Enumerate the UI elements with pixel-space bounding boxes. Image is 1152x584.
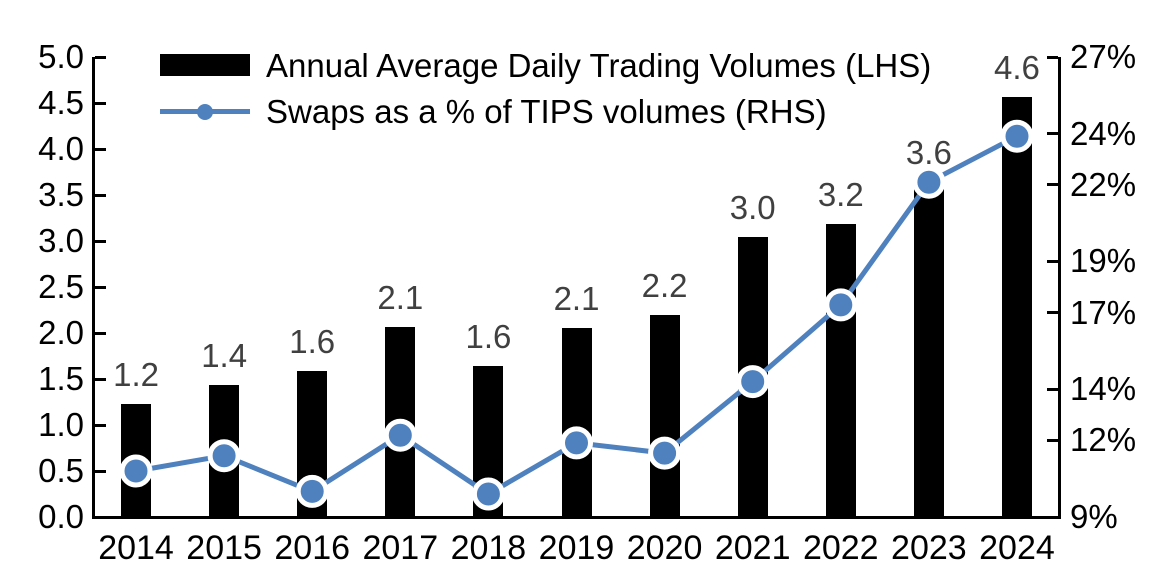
bar[interactable]: [826, 224, 856, 517]
left-axis-tick-label: 1.5: [38, 362, 84, 395]
x-axis-tick-label: 2020: [615, 529, 715, 568]
legend-item-line[interactable]: Swaps as a % of TIPS volumes (RHS): [160, 88, 931, 134]
bar[interactable]: [473, 366, 503, 517]
legend-label-bars: Annual Average Daily Trading Volumes (LH…: [266, 49, 931, 82]
bar[interactable]: [385, 327, 415, 517]
bar[interactable]: [650, 315, 680, 517]
legend-label-line: Swaps as a % of TIPS volumes (RHS): [266, 95, 827, 128]
bar-value-label: 3.0: [703, 191, 803, 224]
bar[interactable]: [297, 371, 327, 517]
line-marker-swatch-icon: [160, 100, 250, 122]
bar-swatch-icon: [160, 54, 250, 76]
right-axis-tick-label: 9%: [1070, 500, 1118, 533]
right-axis-tick-label: 22%: [1070, 168, 1136, 201]
right-axis-tick-label: 24%: [1070, 117, 1136, 150]
bar[interactable]: [738, 237, 768, 517]
left-axis-tick-label: 0.5: [38, 454, 84, 487]
bar-value-label: 1.6: [262, 325, 362, 358]
bar[interactable]: [121, 404, 151, 517]
x-axis-tick-label: 2018: [438, 529, 538, 568]
left-axis-tick-label: 4.5: [38, 86, 84, 119]
x-axis-tick-label: 2019: [527, 529, 627, 568]
x-axis-tick-label: 2017: [350, 529, 450, 568]
left-axis-tick-label: 0.0: [38, 500, 84, 533]
chart-legend: Annual Average Daily Trading Volumes (LH…: [160, 42, 931, 134]
chart-container: 5.04.54.03.53.02.52.01.51.00.50.0 27%24%…: [0, 0, 1152, 584]
right-axis-tick-label: 27%: [1070, 40, 1136, 73]
left-axis-tick-label: 2.0: [38, 316, 84, 349]
right-axis-tick-label: 17%: [1070, 296, 1136, 329]
x-axis-tick-label: 2024: [967, 529, 1067, 568]
bar-value-label: 2.1: [350, 281, 450, 314]
left-axis-tick-label: 3.5: [38, 178, 84, 211]
left-axis-tick-label: 5.0: [38, 40, 84, 73]
bar-value-label: 2.1: [527, 282, 627, 315]
right-axis-tick-label: 12%: [1070, 423, 1136, 456]
bar[interactable]: [209, 385, 239, 517]
bar-value-label: 1.6: [438, 320, 538, 353]
bar-value-label: 1.4: [174, 339, 274, 372]
x-axis-tick-label: 2016: [262, 529, 362, 568]
bar[interactable]: [914, 182, 944, 517]
x-axis-tick-label: 2015: [174, 529, 274, 568]
right-axis-tick-label: 19%: [1070, 244, 1136, 277]
bar[interactable]: [1002, 97, 1032, 517]
bar-value-label: 3.6: [879, 136, 979, 169]
bar-value-label: 3.2: [791, 178, 891, 211]
x-axis-tick-label: 2022: [791, 529, 891, 568]
bar-value-label: 2.2: [615, 269, 715, 302]
x-axis-tick-label: 2021: [703, 529, 803, 568]
x-axis-tick-label: 2023: [879, 529, 979, 568]
left-axis-tick-label: 3.0: [38, 224, 84, 257]
legend-item-bars[interactable]: Annual Average Daily Trading Volumes (LH…: [160, 42, 931, 88]
left-axis-tick-label: 4.0: [38, 132, 84, 165]
bar-value-label: 1.2: [86, 358, 186, 391]
bar-value-label: 4.6: [967, 51, 1067, 84]
x-axis-tick-label: 2014: [86, 529, 186, 568]
left-axis-tick-label: 1.0: [38, 408, 84, 441]
left-axis-tick-label: 2.5: [38, 270, 84, 303]
right-axis-tick-label: 14%: [1070, 372, 1136, 405]
bar[interactable]: [562, 328, 592, 517]
